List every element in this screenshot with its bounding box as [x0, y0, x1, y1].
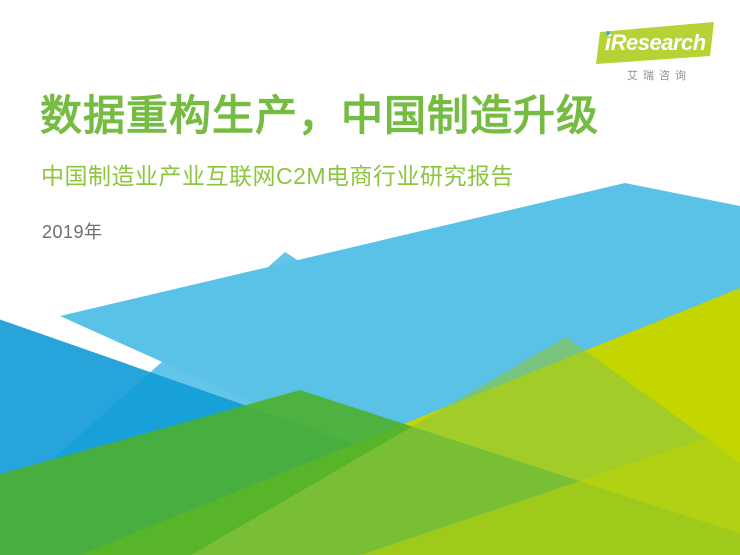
report-cover-page: iResearch 艾瑞咨询 数据重构生产，中国制造升级 中国制造业产业互联网C…: [0, 0, 740, 555]
page-subtitle: 中国制造业产业互联网C2M电商行业研究报告: [41, 163, 514, 191]
page-title: 数据重构生产，中国制造升级: [40, 92, 599, 140]
report-year: 2019年: [42, 222, 103, 244]
logo-chinese-name: 艾瑞咨询: [596, 67, 718, 83]
background-artwork: [0, 0, 740, 555]
logo-wordmark-text: Research: [611, 32, 706, 54]
logo-wordmark: iResearch: [596, 22, 718, 64]
iresearch-logo[interactable]: iResearch 艾瑞咨询: [596, 22, 718, 83]
logo-banner: iResearch: [596, 22, 718, 64]
logo-dot-icon: [606, 31, 610, 35]
